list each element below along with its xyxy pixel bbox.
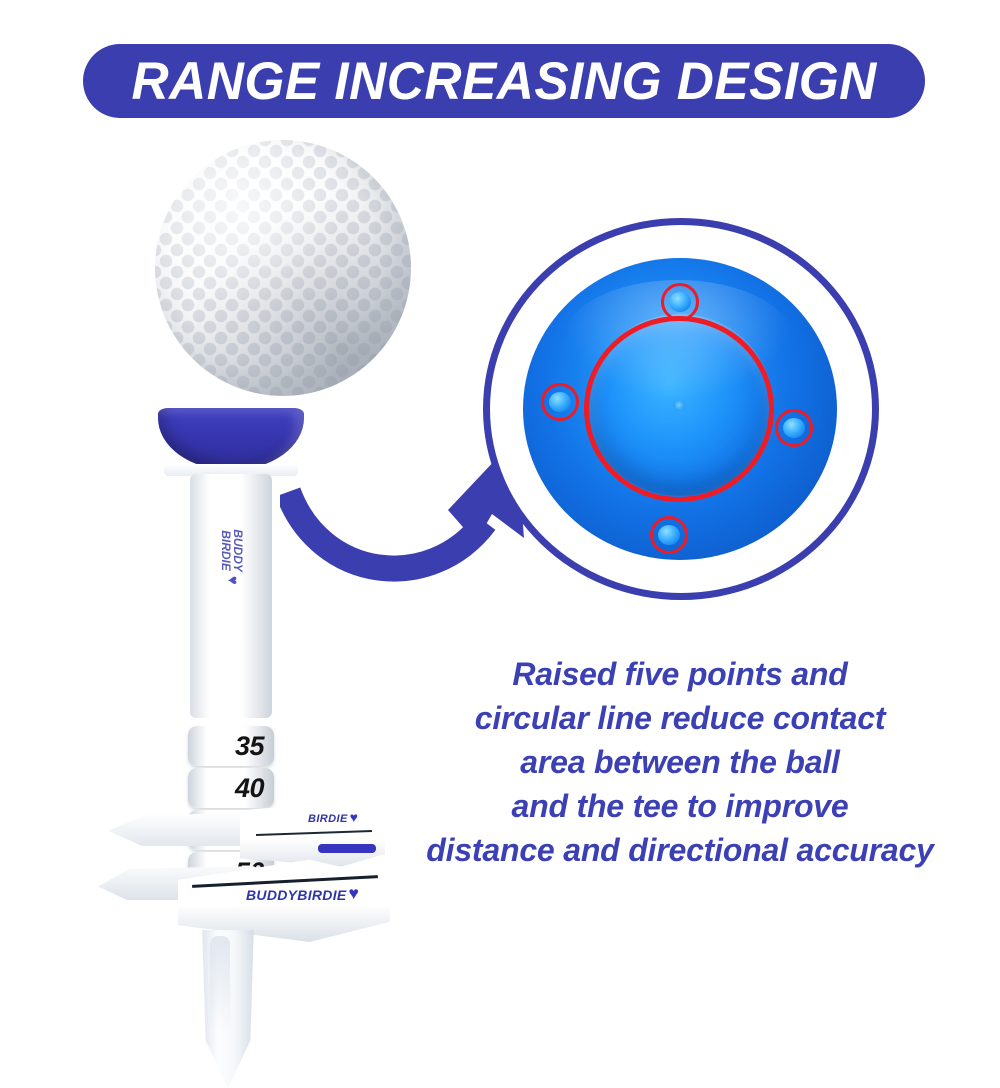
tee-height-mark: 35 <box>188 726 274 766</box>
raised-point-marker <box>650 516 688 554</box>
feature-description-line: and the tee to improve <box>380 784 980 828</box>
feature-description-line: Raised five points and <box>380 652 980 696</box>
tee-fin-upper-brand: BIRDIE ♥ <box>308 812 358 826</box>
golf-ball-shading <box>155 140 411 396</box>
tee-shaft <box>190 474 272 718</box>
shaft-logo-line2: BIRDIE <box>220 529 232 572</box>
shaft-brand-logo: BUDDY BIRDIE ♥ <box>187 525 277 589</box>
raised-point-bump <box>669 292 691 312</box>
header-banner: RANGE INCREASING DESIGN <box>83 44 925 118</box>
raised-point-marker <box>541 383 579 421</box>
page-title: RANGE INCREASING DESIGN <box>131 51 876 112</box>
raised-point-bump <box>783 418 805 438</box>
tee-spike-highlight <box>210 936 230 1032</box>
feature-description-line: distance and directional accuracy <box>380 828 980 872</box>
bird-logo-icon: ♥ <box>349 885 360 903</box>
golf-ball <box>155 140 411 396</box>
shaft-brand-logo-text: BUDDY BIRDIE <box>220 529 244 572</box>
bird-logo-icon: ♥ <box>350 811 359 825</box>
tee-fin-lower-brand: BUDDYBIRDIE ♥ <box>246 886 359 904</box>
tee-fin-upper-brand-label: BIRDIE <box>308 813 348 825</box>
tee-height-mark-label: 40 <box>235 773 264 804</box>
raised-point-bump <box>658 525 680 545</box>
raised-point-marker <box>661 283 699 321</box>
tee-fin-lower-brand-label: BUDDYBIRDIE <box>246 887 347 903</box>
red-circular-line <box>584 316 774 502</box>
tee-height-mark-label: 35 <box>235 731 264 762</box>
raised-point-marker <box>775 409 813 447</box>
feature-description: Raised five points and circular line red… <box>380 652 980 872</box>
raised-point-bump <box>549 392 571 412</box>
bird-logo-icon: ♥ <box>226 576 241 585</box>
feature-description-line: circular line reduce contact <box>380 696 980 740</box>
shaft-logo-line1: BUDDY <box>232 529 244 572</box>
tee-height-mark: 40 <box>188 768 274 808</box>
tee-fin-upper-blue-bar <box>318 844 376 853</box>
feature-description-line: area between the ball <box>380 740 980 784</box>
